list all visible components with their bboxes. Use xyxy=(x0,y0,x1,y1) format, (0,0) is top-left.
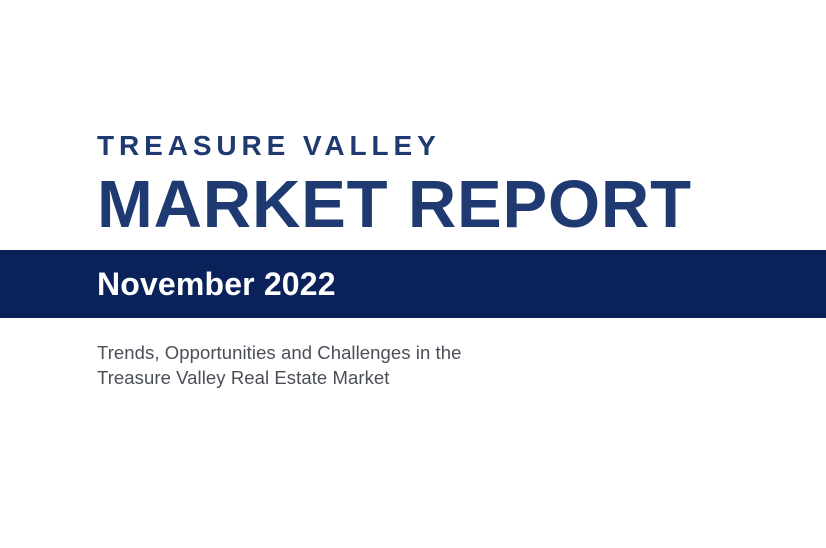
report-subtitle: Trends, Opportunities and Challenges in … xyxy=(97,340,657,390)
page-title: MARKET REPORT xyxy=(97,170,797,240)
date-band: November 2022 xyxy=(0,250,826,318)
masthead: TREASURE VALLEY MARKET REPORT xyxy=(97,131,797,240)
report-subtitle-line-1: Trends, Opportunities and Challenges in … xyxy=(97,340,657,365)
report-cover-page: TREASURE VALLEY MARKET REPORT November 2… xyxy=(0,0,826,548)
report-subtitle-line-2: Treasure Valley Real Estate Market xyxy=(97,365,657,390)
report-eyebrow-title: TREASURE VALLEY xyxy=(97,131,797,161)
report-date-label: November 2022 xyxy=(97,266,336,302)
